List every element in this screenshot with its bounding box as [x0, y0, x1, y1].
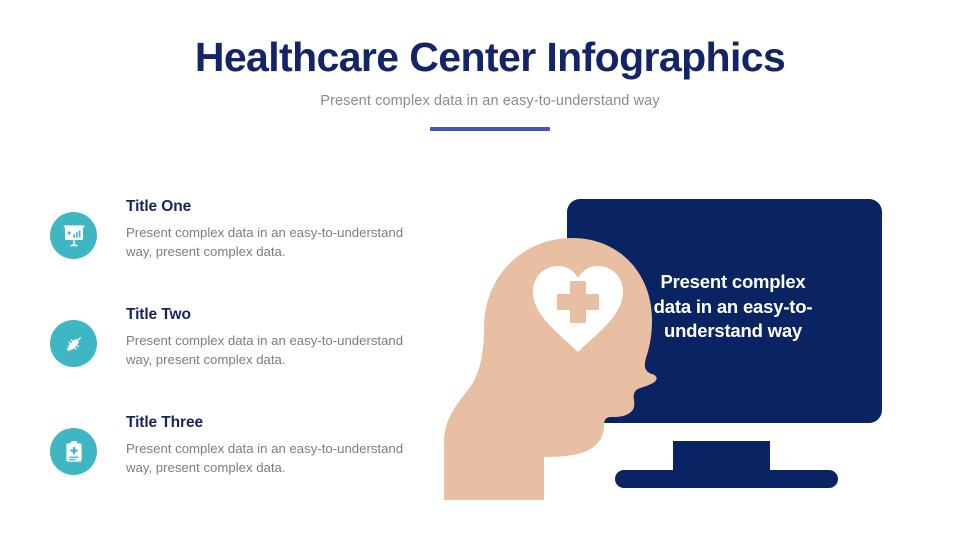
- feature-item-two[interactable]: Title Two Present complex data in an eas…: [50, 306, 430, 398]
- accent-divider: [430, 127, 550, 131]
- feature-description: Present complex data in an easy-to-under…: [126, 440, 418, 477]
- page-subtitle: Present complex data in an easy-to-under…: [0, 93, 980, 109]
- monitor-screen-text: Present complex data in an easy-to- unde…: [619, 270, 847, 344]
- page-title: Healthcare Center Infographics: [0, 36, 980, 79]
- syringe-icon: [50, 320, 97, 367]
- feature-item-three[interactable]: Title Three Present complex data in an e…: [50, 414, 430, 506]
- slide-canvas: Healthcare Center Infographics Present c…: [0, 0, 980, 551]
- healthcare-illustration: [420, 180, 920, 510]
- feature-list: Title One Present complex data in an eas…: [50, 198, 430, 522]
- medical-clipboard-icon: [50, 428, 97, 475]
- presentation-chart-icon: [50, 212, 97, 259]
- monitor-text-line-3: understand way: [619, 319, 847, 344]
- feature-description: Present complex data in an easy-to-under…: [126, 224, 418, 261]
- feature-title: Title Two: [126, 306, 430, 324]
- feature-title: Title Three: [126, 414, 430, 432]
- feature-title: Title One: [126, 198, 430, 216]
- monitor-text-line-2: data in an easy-to-: [619, 295, 847, 320]
- monitor-text-line-1: Present complex: [619, 270, 847, 295]
- feature-item-one[interactable]: Title One Present complex data in an eas…: [50, 198, 430, 290]
- feature-description: Present complex data in an easy-to-under…: [126, 332, 418, 369]
- header: Healthcare Center Infographics Present c…: [0, 36, 980, 131]
